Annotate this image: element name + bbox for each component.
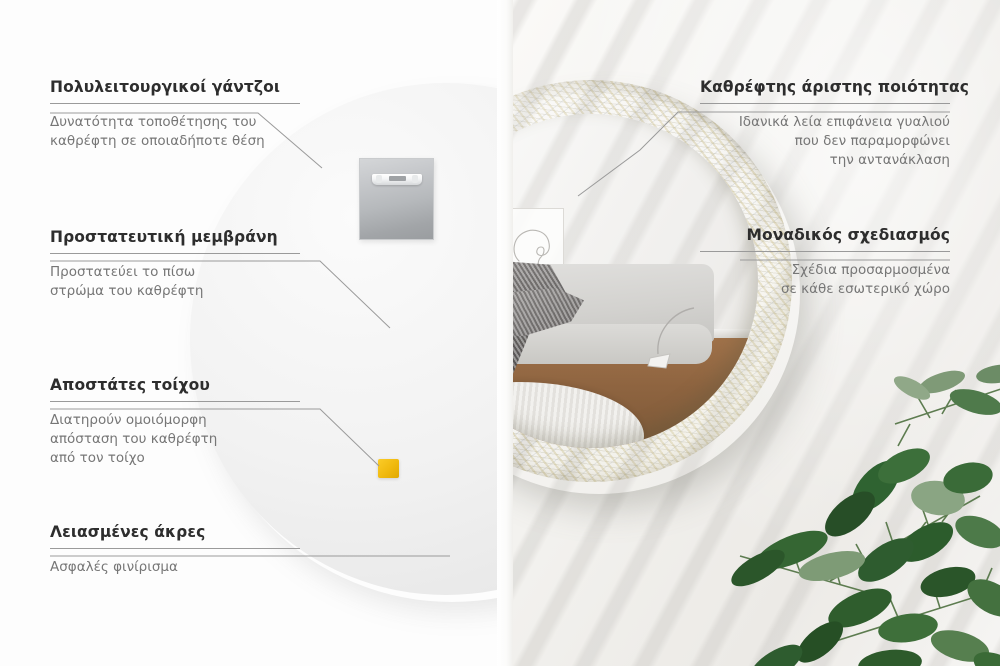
feature-divider (50, 253, 300, 254)
wall-corner-strip (497, 0, 513, 666)
hanger-plate (359, 158, 434, 240)
feature-divider (50, 103, 300, 104)
yellow-spacer (378, 459, 399, 478)
feature-block-membrane: Προστατευτική μεμβράνη Προστατεύει το πί… (50, 228, 300, 301)
feature-block-hooks: Πολυλειτουργικοί γάντζοι Δυνατότητα τοπο… (50, 78, 300, 151)
feature-description: Δυνατότητα τοποθέτησης τουκαθρέφτη σε οπ… (50, 113, 300, 151)
feature-description: Ασφαλές φινίρισμα (50, 558, 300, 577)
feature-description: Σχέδια προσαρμοσμένασε κάθε εσωτερικό χώ… (700, 261, 950, 299)
feature-block-spacers: Αποστάτες τοίχου Διατηρούν ομοιόμορφηαπό… (50, 376, 300, 468)
feature-divider (50, 401, 300, 402)
feature-title: Λειασμένες άκρες (50, 523, 300, 541)
feature-divider (700, 103, 950, 104)
hanger-right-end (412, 175, 418, 183)
feature-description: Προστατεύει το πίσωστρώμα του καθρέφτη (50, 263, 300, 301)
feature-title: Μοναδικός σχεδιασμός (700, 226, 950, 244)
hanger-bracket-icon (372, 174, 422, 185)
feature-title: Πολυλειτουργικοί γάντζοι (50, 78, 300, 96)
feature-title: Αποστάτες τοίχου (50, 376, 300, 394)
hanger-left-end (376, 175, 382, 183)
feature-block-design: Μοναδικός σχεδιασμός Σχέδια προσαρμοσμέν… (700, 226, 950, 299)
feature-block-quality: Καθρέφτης άριστης ποιότητας Ιδανικά λεία… (700, 78, 950, 170)
feature-title: Προστατευτική μεμβράνη (50, 228, 300, 246)
feature-description: Διατηρούν ομοιόμορφηαπόσταση του καθρέφτ… (50, 411, 300, 468)
feature-divider (700, 251, 950, 252)
feature-divider (50, 548, 300, 549)
feature-description: Ιδανικά λεία επιφάνεια γυαλιούπου δεν πα… (700, 113, 950, 170)
feature-block-edges: Λειασμένες άκρες Ασφαλές φινίρισμα (50, 523, 300, 577)
green-foliage (680, 346, 1000, 666)
hanger-slot (389, 176, 406, 181)
mirror-disc-back (190, 83, 500, 595)
product-infographic: Πολυλειτουργικοί γάντζοι Δυνατότητα τοπο… (0, 0, 1000, 666)
feature-title: Καθρέφτης άριστης ποιότητας (700, 78, 950, 96)
